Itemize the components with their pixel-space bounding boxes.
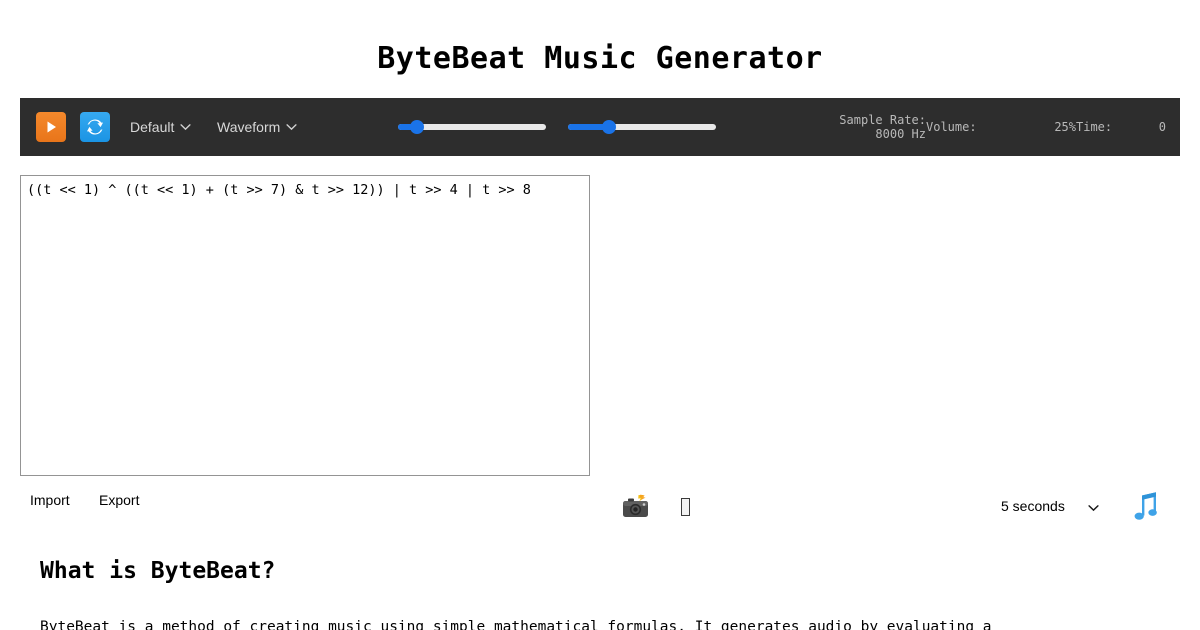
time-label: Time: — [1076, 120, 1112, 134]
info-paragraph: ByteBeat is a method of creating music u… — [40, 616, 1160, 630]
missing-glyph-icon — [681, 498, 690, 516]
waveform-select-wrapper: Waveform — [211, 116, 303, 138]
export-button[interactable]: Export — [99, 492, 139, 508]
time-readout: Time: 0 — [1076, 120, 1166, 134]
screenshot-button[interactable] — [622, 494, 650, 520]
page-title: ByteBeat Music Generator — [0, 40, 1200, 78]
preset-select[interactable]: Default — [124, 116, 197, 138]
preset-select-wrapper: Default — [124, 116, 197, 138]
app-page: ByteBeat Music Generator Default — [0, 0, 1200, 630]
formula-editor[interactable] — [20, 175, 590, 476]
info-section: What is ByteBeat? ByteBeat is a method o… — [40, 556, 1160, 630]
time-value: 0 — [1159, 120, 1166, 134]
duration-select-wrapper: 5 seconds — [997, 494, 1107, 522]
player-toolbar: Default Waveform — [20, 98, 1180, 156]
volume-value: 25% — [1054, 120, 1076, 134]
musical-note-icon — [1131, 489, 1161, 523]
camera-with-flash-icon — [622, 494, 650, 520]
sample-rate-readout: Sample Rate: 8000 Hz — [806, 113, 926, 141]
play-music-button[interactable] — [1131, 488, 1161, 524]
sample-rate-label: Sample Rate: — [839, 113, 926, 127]
info-heading: What is ByteBeat? — [40, 556, 1160, 586]
import-button[interactable]: Import — [30, 492, 70, 508]
toolbar-sliders — [398, 98, 716, 156]
waveform-select[interactable]: Waveform — [211, 116, 303, 138]
toolbar-left-group: Default Waveform — [20, 112, 303, 142]
action-bar: Import Export 5 seconds — [0, 486, 1200, 532]
volume-readout: Volume: 25% — [926, 120, 1076, 134]
missing-glyph-button[interactable] — [676, 494, 694, 520]
slider-thumb[interactable] — [410, 120, 424, 134]
play-icon — [42, 118, 60, 136]
sample-rate-slider[interactable] — [398, 118, 546, 136]
status-readouts: Sample Rate: 8000 Hz Volume: 25% Time: 0 — [806, 98, 1166, 156]
volume-label: Volume: — [926, 120, 977, 134]
sample-rate-value: 8000 Hz — [875, 127, 926, 141]
slider-thumb[interactable] — [602, 120, 616, 134]
duration-select[interactable]: 5 seconds — [997, 494, 1107, 518]
play-button[interactable] — [36, 112, 66, 142]
reset-loop-button[interactable] — [80, 112, 110, 142]
volume-slider[interactable] — [568, 118, 716, 136]
arrows-counterclockwise-icon — [85, 117, 105, 137]
